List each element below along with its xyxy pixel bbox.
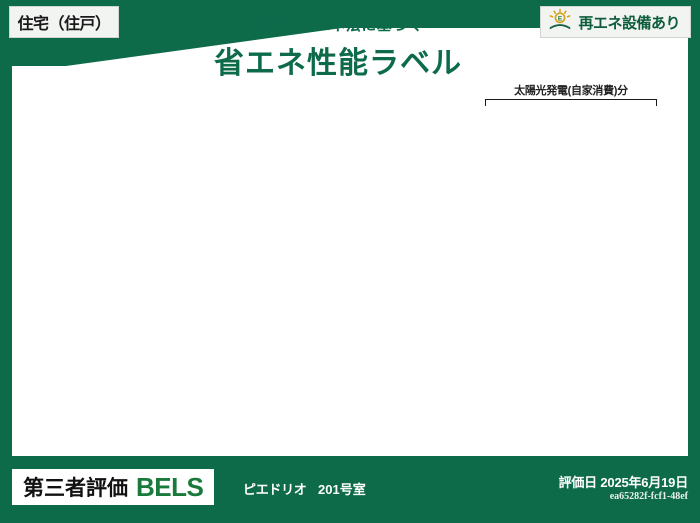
renewable-equipment-chip: E 再エネ設備あり (540, 6, 691, 38)
bels-jp-label: 第三者評価 (23, 472, 128, 502)
energy-performance-label: 住宅（住戸） E 再エネ設備あり 建築物省エネ法に基づく 省エネ性能ラベル (0, 0, 700, 523)
housing-type-chip: 住宅（住戸） (9, 6, 119, 38)
title-main: 省エネ性能ラベル (0, 38, 676, 82)
solar-portion-annotation: 太陽光発電(自家消費)分 (485, 82, 657, 106)
property-name: ピエドリオ (243, 479, 307, 498)
footer-band: 第三者評価 BELS ピエドリオ 201号室 評価日 2025年6月19日 ea… (0, 461, 700, 523)
svg-text:E: E (558, 15, 563, 22)
housing-type-label: 住宅（住戸） (17, 10, 110, 34)
evaluation-date: 評価日 2025年6月19日 (559, 472, 688, 491)
bels-certification-plate: 第三者評価 BELS (12, 469, 214, 505)
solar-portion-bracket (485, 99, 657, 106)
solar-portion-label: 太陽光発電(自家消費)分 (485, 82, 657, 98)
bels-en-label: BELS (136, 472, 203, 503)
renewable-equipment-label: 再エネ設備あり (578, 12, 680, 33)
evaluation-id: ea65282f-fcf1-48ef (610, 491, 688, 502)
solar-sun-icon: E (547, 8, 573, 37)
property-room-number: 201号室 (318, 479, 366, 498)
